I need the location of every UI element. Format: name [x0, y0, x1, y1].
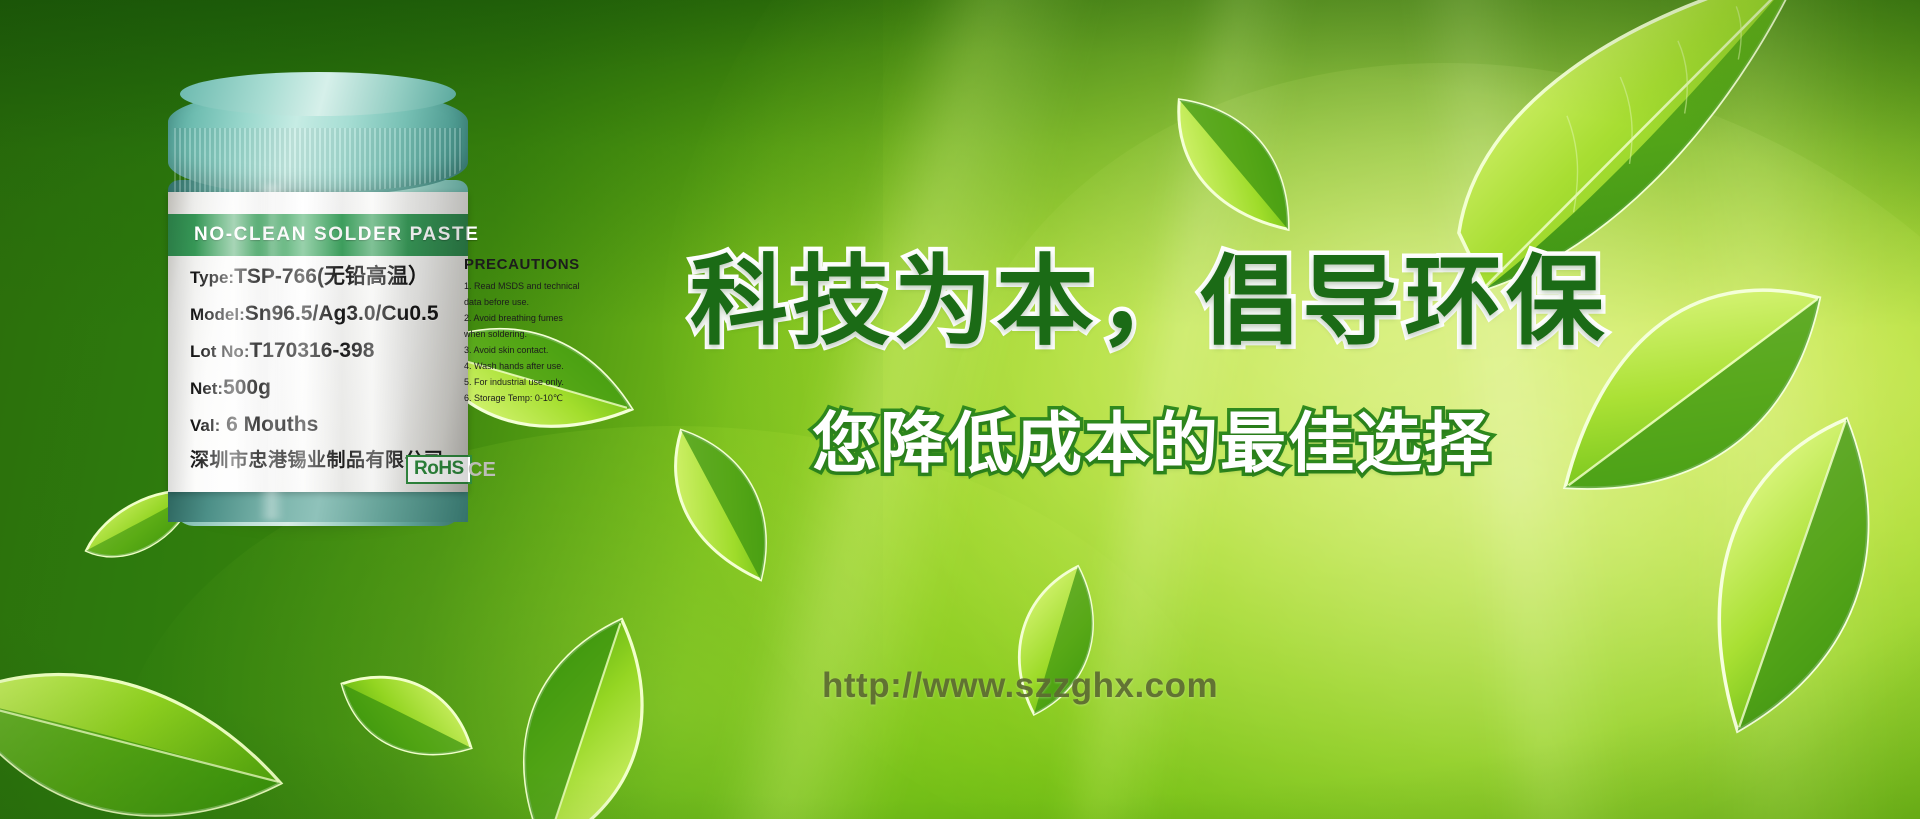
page-subtitle: 您降低成本的最佳选择	[812, 390, 1492, 486]
precautions-item: 5. For industrial use only.	[464, 376, 614, 389]
label-field-model-key: Model:	[190, 305, 245, 324]
label-field-lot: Lot No:T170316-398	[190, 340, 458, 361]
label-field-model-value: Sn96.5/Ag3.0/Cu0.5	[245, 302, 439, 325]
product-jar: NO-CLEAN SOLDER PASTE Type:TSP-766(无铅高温）…	[168, 88, 468, 526]
promo-banner: NO-CLEAN SOLDER PASTE Type:TSP-766(无铅高温）…	[0, 0, 1920, 819]
jar-neck	[168, 492, 468, 522]
label-field-net: Net:500g	[190, 377, 458, 398]
label-field-lot-key: Lot No:	[190, 342, 249, 361]
precautions-item: when soldering.	[464, 328, 614, 341]
label-title-text: NO-CLEAN SOLDER PASTE	[168, 224, 480, 246]
label-field-list: Type:TSP-766(无铅高温） Model:Sn96.5/Ag3.0/Cu…	[190, 266, 458, 486]
label-title-bar: NO-CLEAN SOLDER PASTE	[168, 214, 468, 256]
label-precautions: PRECAUTIONS 1. Read MSDS and technical d…	[464, 256, 614, 408]
page-title: 科技为本，倡导环保	[690, 222, 1608, 364]
precautions-item: 1. Read MSDS and technical	[464, 280, 614, 293]
precautions-item: 4. Wash hands after use.	[464, 360, 614, 373]
label-field-type-key: Type:	[190, 268, 234, 287]
ce-badge: CE	[468, 459, 496, 482]
precautions-title: PRECAUTIONS	[464, 256, 614, 273]
label-field-val-key: Val:	[190, 416, 220, 435]
jar-lid	[168, 88, 468, 196]
label-field-net-key: Net:	[190, 379, 223, 398]
label-field-lot-value: T170316-398	[249, 339, 374, 362]
website-url[interactable]: http://www.szzghx.com	[822, 666, 1218, 706]
rohs-badge: RoHS	[406, 455, 472, 484]
product-label: NO-CLEAN SOLDER PASTE Type:TSP-766(无铅高温）…	[168, 192, 468, 492]
jar-lid-ridges	[174, 128, 462, 192]
precautions-item: 2. Avoid breathing fumes	[464, 312, 614, 325]
jar-lid-top	[180, 72, 456, 116]
label-field-val-value: 6 Mouths	[220, 413, 318, 436]
label-field-val: Val: 6 Mouths	[190, 414, 458, 435]
label-field-net-value: 500g	[223, 376, 271, 399]
label-field-type: Type:TSP-766(无铅高温）	[190, 266, 458, 287]
label-field-model: Model:Sn96.5/Ag3.0/Cu0.5	[190, 303, 458, 324]
label-field-type-value: TSP-766(无铅高温）	[234, 265, 429, 288]
precautions-item: data before use.	[464, 296, 614, 309]
precautions-item: 3. Avoid skin contact.	[464, 344, 614, 357]
precautions-item: 6. Storage Temp: 0-10℃	[464, 392, 614, 405]
